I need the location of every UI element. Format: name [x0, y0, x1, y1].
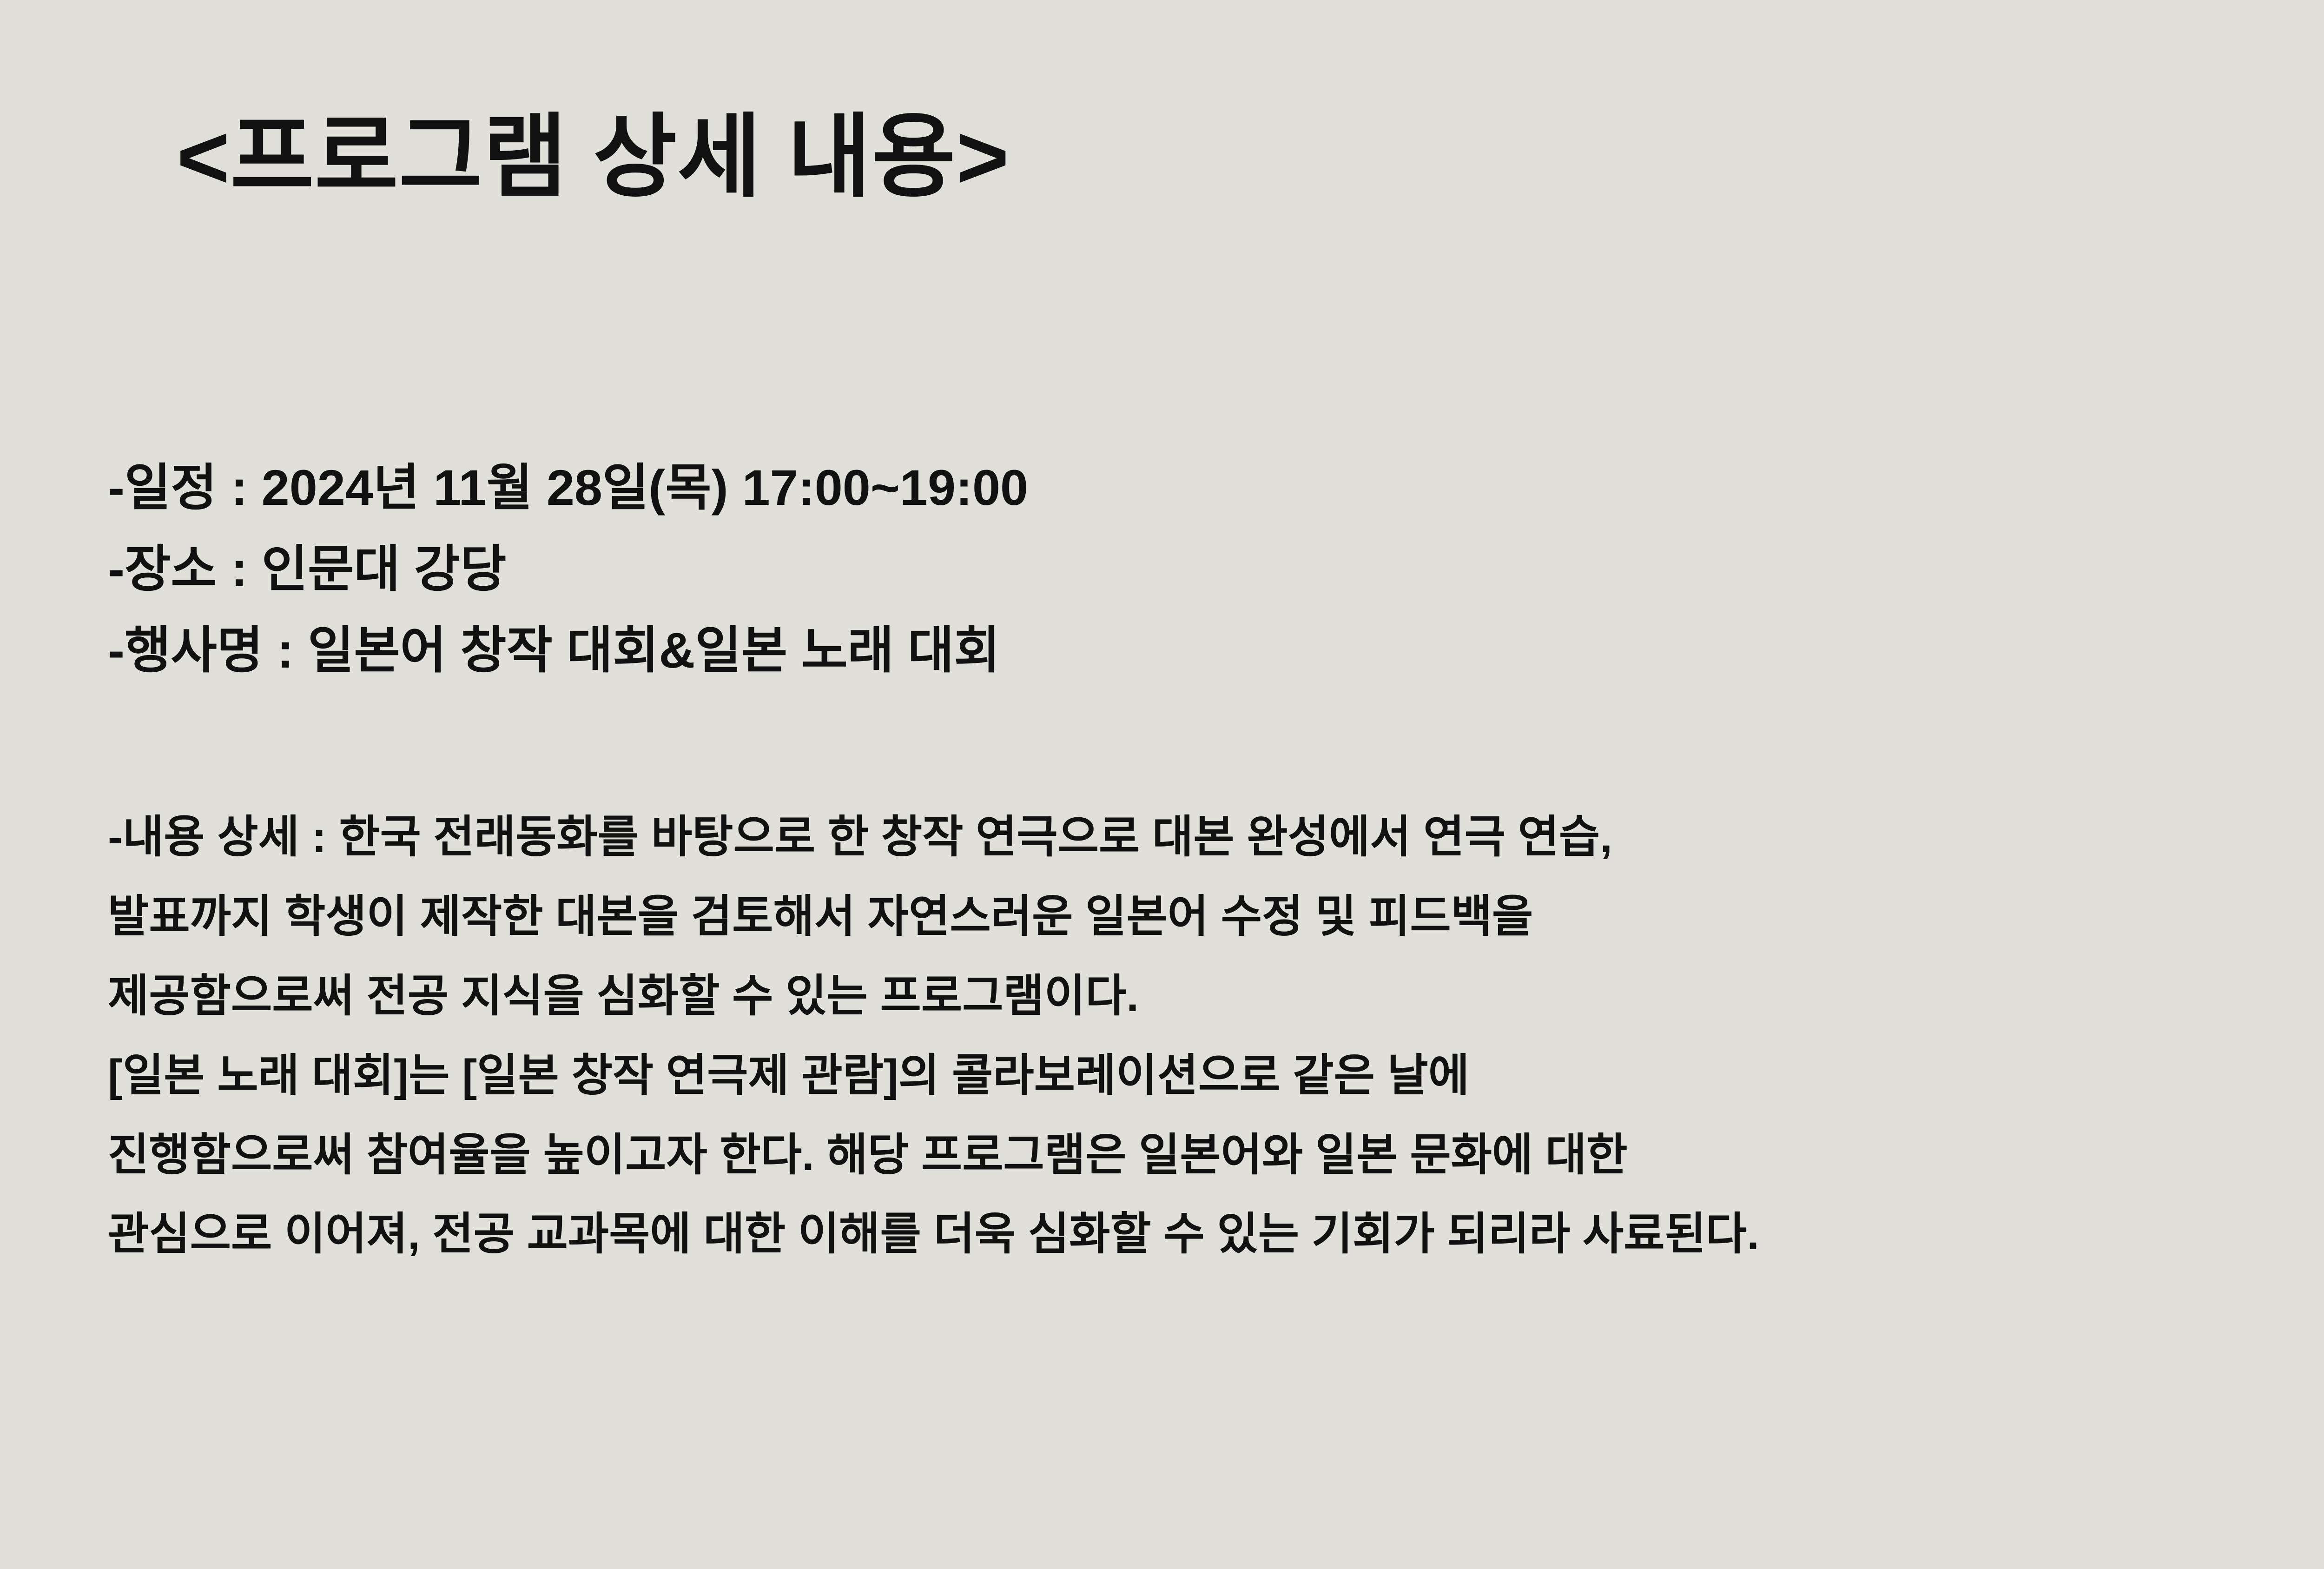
- program-info-block: -일정 : 2024년 11월 28일(목) 17:00~19:00 -장소 :…: [108, 447, 2324, 691]
- description-line-1: -내용 상세 : 한국 전래동화를 바탕으로 한 창작 연극으로 대본 완성에서…: [108, 798, 2324, 877]
- description-line-4: [일본 노래 대회]는 [일본 창작 연극제 관람]의 콜라보레이션으로 같은 …: [108, 1036, 2324, 1116]
- slide-canvas: <프로그램 상세 내용> -일정 : 2024년 11월 28일(목) 17:0…: [0, 0, 2324, 1569]
- title-block: <프로그램 상세 내용>: [177, 106, 2324, 208]
- info-line-venue: -장소 : 인문대 강당: [108, 529, 2324, 610]
- program-description-block: -내용 상세 : 한국 전래동화를 바탕으로 한 창작 연극으로 대본 완성에서…: [108, 798, 2324, 1274]
- description-line-3: 제공함으로써 전공 지식을 심화할 수 있는 프로그램이다.: [108, 957, 2324, 1036]
- description-line-6: 관심으로 이어져, 전공 교과목에 대한 이해를 더욱 심화할 수 있는 기회가…: [108, 1195, 2324, 1274]
- description-line-5: 진행함으로써 참여율을 높이고자 한다. 해당 프로그램은 일본어와 일본 문화…: [108, 1116, 2324, 1195]
- info-line-schedule: -일정 : 2024년 11월 28일(목) 17:00~19:00: [108, 447, 2324, 529]
- info-line-event-name: -행사명 : 일본어 창작 대회&일본 노래 대회: [108, 610, 2324, 691]
- page-title: <프로그램 상세 내용>: [177, 106, 2324, 208]
- description-line-2: 발표까지 학생이 제작한 대본을 검토해서 자연스러운 일본어 수정 및 피드백…: [108, 877, 2324, 957]
